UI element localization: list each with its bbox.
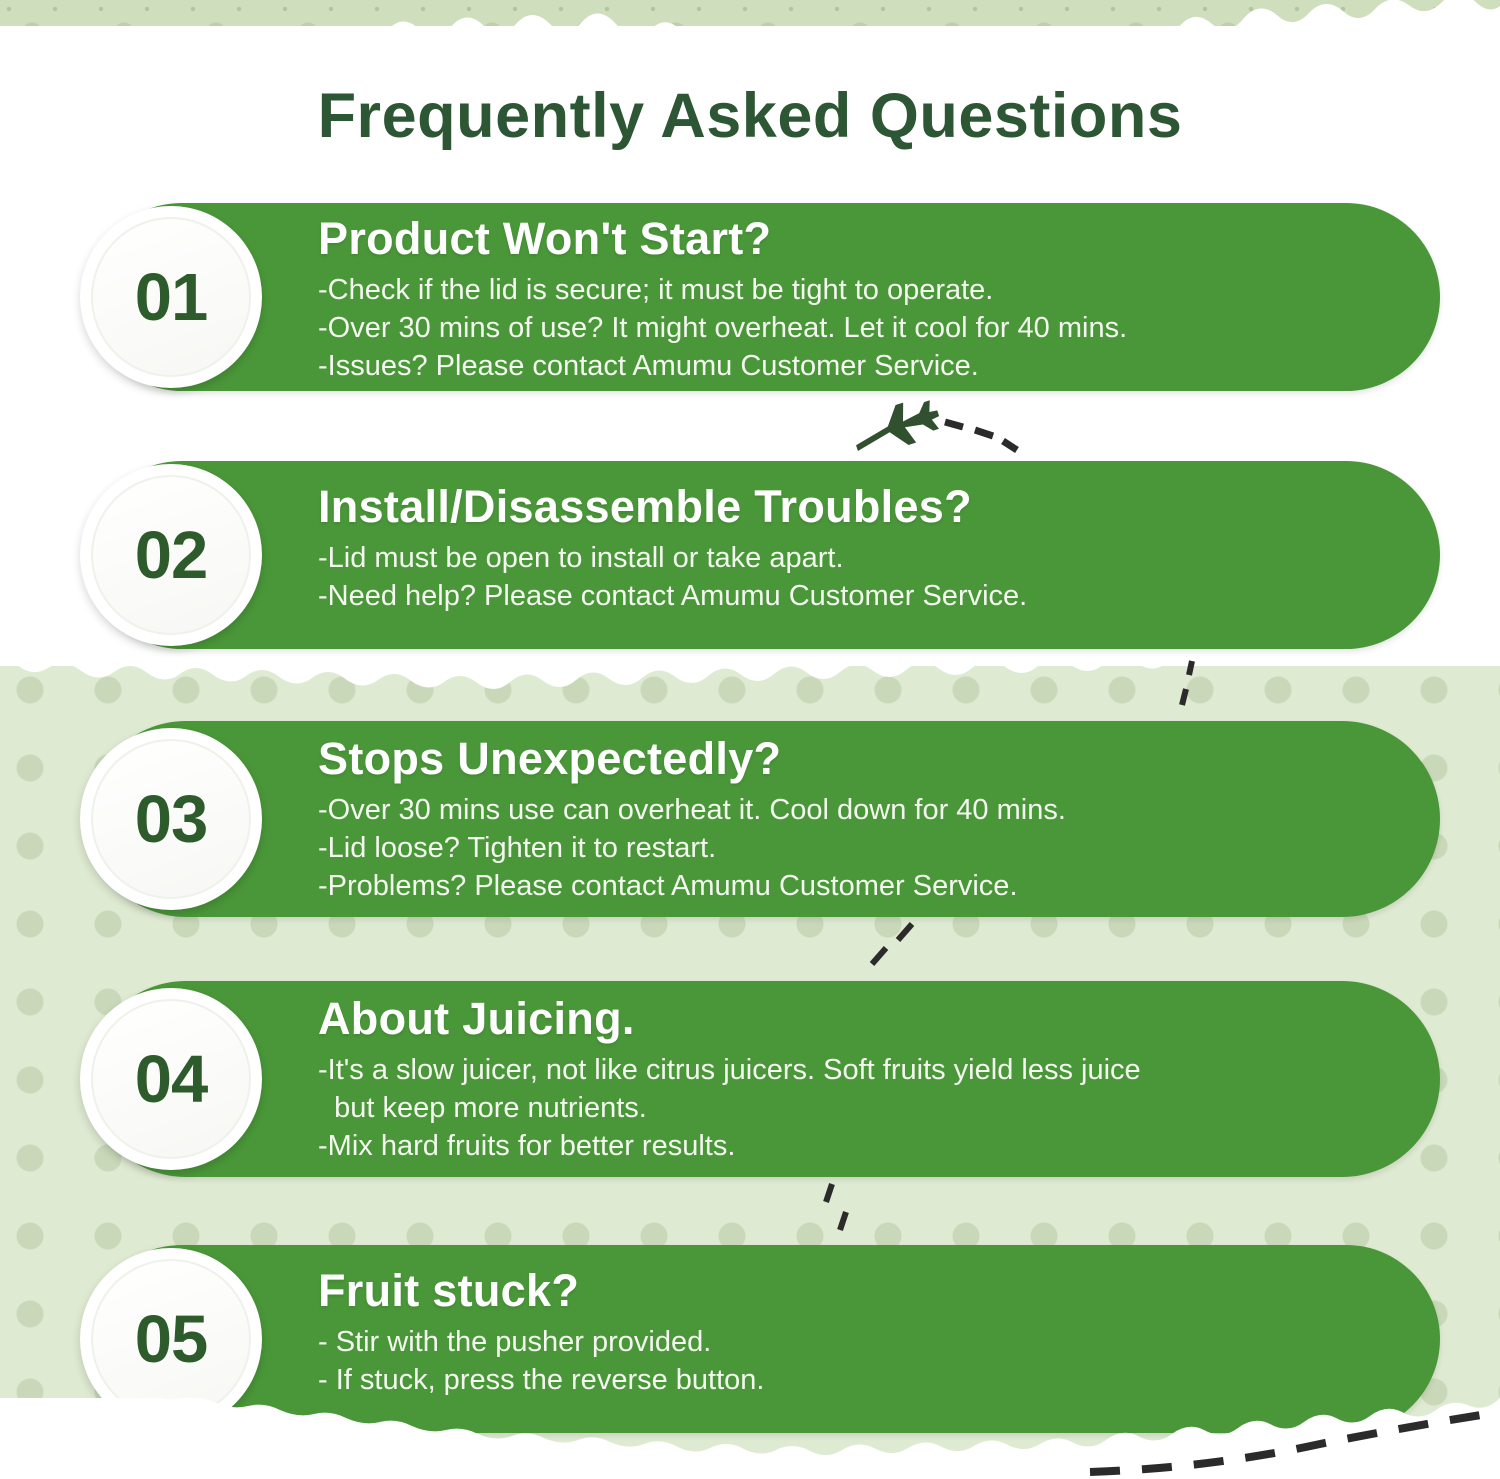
faq-answer-line: -Mix hard fruits for better results. (318, 1127, 1440, 1165)
faq-number-04: 04 (135, 1041, 208, 1118)
faq-answer-line: but keep more nutrients. (318, 1089, 1440, 1127)
faq-number-01: 01 (135, 259, 208, 336)
faq-question-04: About Juicing. (318, 995, 1440, 1044)
faq-answer-01: -Check if the lid is secure; it must be … (318, 271, 1440, 386)
faq-answer-line: - Stir with the pusher provided. (318, 1323, 1440, 1361)
faq-answer-03: -Over 30 mins use can overheat it. Cool … (318, 791, 1440, 906)
faq-question-05: Fruit stuck? (318, 1267, 1440, 1316)
faq-answer-02: -Lid must be open to install or take apa… (318, 539, 1440, 616)
faq-answer-line: -Lid must be open to install or take apa… (318, 539, 1440, 577)
faq-badge-04: 04 (80, 988, 262, 1170)
faq-number-05: 05 (135, 1301, 208, 1378)
faq-question-03: Stops Unexpectedly? (318, 735, 1440, 784)
faq-answer-line: -Over 30 mins use can overheat it. Cool … (318, 791, 1440, 829)
faq-answer-05: - Stir with the pusher provided. - If st… (318, 1323, 1440, 1400)
faq-number-03: 03 (135, 781, 208, 858)
faq-badge-05: 05 (80, 1248, 262, 1430)
faq-badge-01: 01 (80, 206, 262, 388)
faq-answer-line: - If stuck, press the reverse button. (318, 1361, 1440, 1399)
faq-question-02: Install/Disassemble Troubles? (318, 483, 1440, 532)
faq-card-04[interactable]: 04 About Juicing. -It's a slow juicer, n… (88, 981, 1440, 1177)
faq-card-03[interactable]: 03 Stops Unexpectedly? -Over 30 mins use… (88, 721, 1440, 917)
faq-answer-line: -Need help? Please contact Amumu Custome… (318, 577, 1440, 615)
faq-answer-line: -Lid loose? Tighten it to restart. (318, 829, 1440, 867)
faq-answer-line: -Check if the lid is secure; it must be … (318, 271, 1440, 309)
faq-answer-line: -Issues? Please contact Amumu Customer S… (318, 347, 1440, 385)
faq-card-02[interactable]: 02 Install/Disassemble Troubles? -Lid mu… (88, 461, 1440, 649)
faq-answer-line: -Over 30 mins of use? It might overheat.… (318, 309, 1440, 347)
faq-answer-line: -It's a slow juicer, not like citrus jui… (318, 1051, 1440, 1089)
faq-badge-03: 03 (80, 728, 262, 910)
faq-answer-line: -Problems? Please contact Amumu Customer… (318, 867, 1440, 905)
faq-infographic: Frequently Asked Questions 01 Product Wo… (0, 0, 1500, 1479)
faq-card-05[interactable]: 05 Fruit stuck? - Stir with the pusher p… (88, 1245, 1440, 1433)
faq-answer-04: -It's a slow juicer, not like citrus jui… (318, 1051, 1440, 1166)
faq-badge-02: 02 (80, 464, 262, 646)
page-title: Frequently Asked Questions (0, 80, 1500, 152)
faq-card-01[interactable]: 01 Product Won't Start? -Check if the li… (88, 203, 1440, 391)
faq-question-01: Product Won't Start? (318, 215, 1440, 264)
faq-number-02: 02 (135, 517, 208, 594)
